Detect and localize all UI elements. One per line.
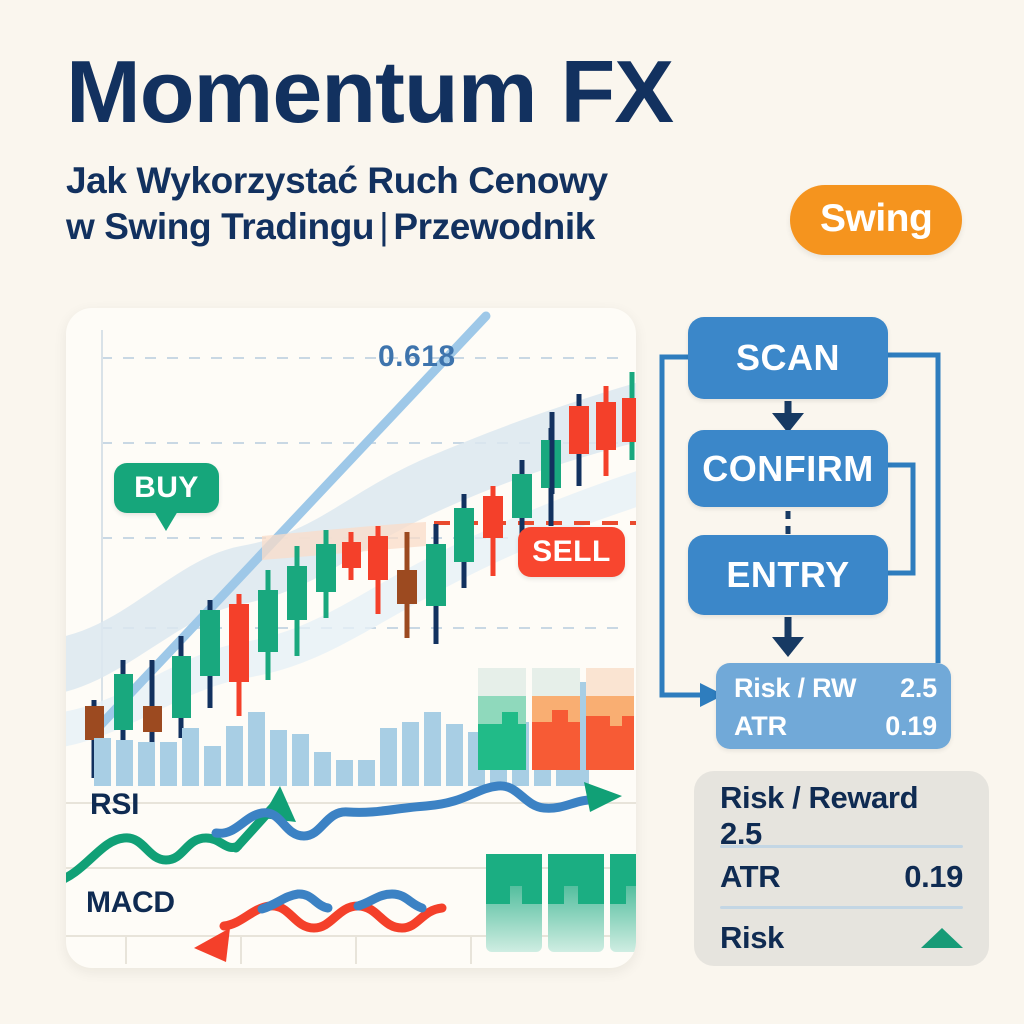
stat-label: ATR	[720, 859, 780, 895]
macd-wave	[224, 906, 442, 928]
flow-metric-row: Risk / RW 2.5	[734, 669, 937, 707]
swing-badge[interactable]: Swing	[790, 185, 962, 255]
stat-row-risk: Risk	[720, 909, 963, 967]
fib-level-label: 0.618	[378, 340, 456, 374]
flow-metric-value: 2.5	[900, 669, 937, 707]
subtitle-separator: |	[374, 206, 393, 247]
stat-row-risk-reward: Risk / Reward 2.5	[720, 787, 963, 845]
flow-metrics-panel: Risk / RW 2.5 ATR 0.19	[716, 663, 951, 749]
buy-signal-pill[interactable]: BUY	[114, 463, 219, 513]
flow-metric-value: 0.19	[885, 707, 937, 745]
flow-node-confirm[interactable]: CONFIRM	[688, 430, 888, 507]
subtitle-line-2a: w Swing Tradingu	[66, 206, 374, 247]
chart-card: 0.618 BUY SELL RSI MACD	[66, 308, 636, 968]
macd-arrow-icon	[194, 928, 230, 962]
flow-metric-row: ATR 0.19	[734, 707, 937, 745]
stat-label: Risk	[720, 920, 784, 956]
buy-pill-tail-icon	[154, 511, 178, 531]
infographic-root: Momentum FX Jak Wykorzystać Ruch Cenowy …	[0, 0, 1024, 1024]
subtitle-line-2b: Przewodnik	[393, 206, 595, 247]
stat-row-atr: ATR 0.19	[720, 848, 963, 906]
macd-label: MACD	[86, 886, 175, 920]
rsi-blue-arrow-icon	[584, 782, 622, 812]
signal-blocks-bottom	[486, 854, 636, 952]
sell-signal-pill[interactable]: SELL	[518, 527, 625, 577]
rsi-wave	[66, 838, 238, 883]
stats-panel: Risk / Reward 2.5 ATR 0.19 Risk	[694, 771, 989, 966]
flow-metric-label: ATR	[734, 707, 787, 745]
page-title: Momentum FX	[66, 48, 984, 136]
stat-label: Risk / Reward 2.5	[720, 780, 963, 852]
risk-up-triangle-icon	[921, 928, 963, 948]
flow-metric-label: Risk / RW	[734, 669, 856, 707]
rsi-label: RSI	[90, 788, 139, 822]
candlestick-chart	[66, 308, 636, 968]
signal-blocks-top	[478, 668, 634, 770]
stat-value: 0.19	[904, 859, 963, 895]
flow-node-scan[interactable]: SCAN	[688, 317, 888, 399]
strategy-flowchart: SCAN CONFIRM ENTRY Risk / RW 2.5 ATR 0.1…	[648, 305, 978, 755]
flow-node-entry[interactable]: ENTRY	[688, 535, 888, 615]
rsi-blue-wave	[216, 786, 598, 836]
